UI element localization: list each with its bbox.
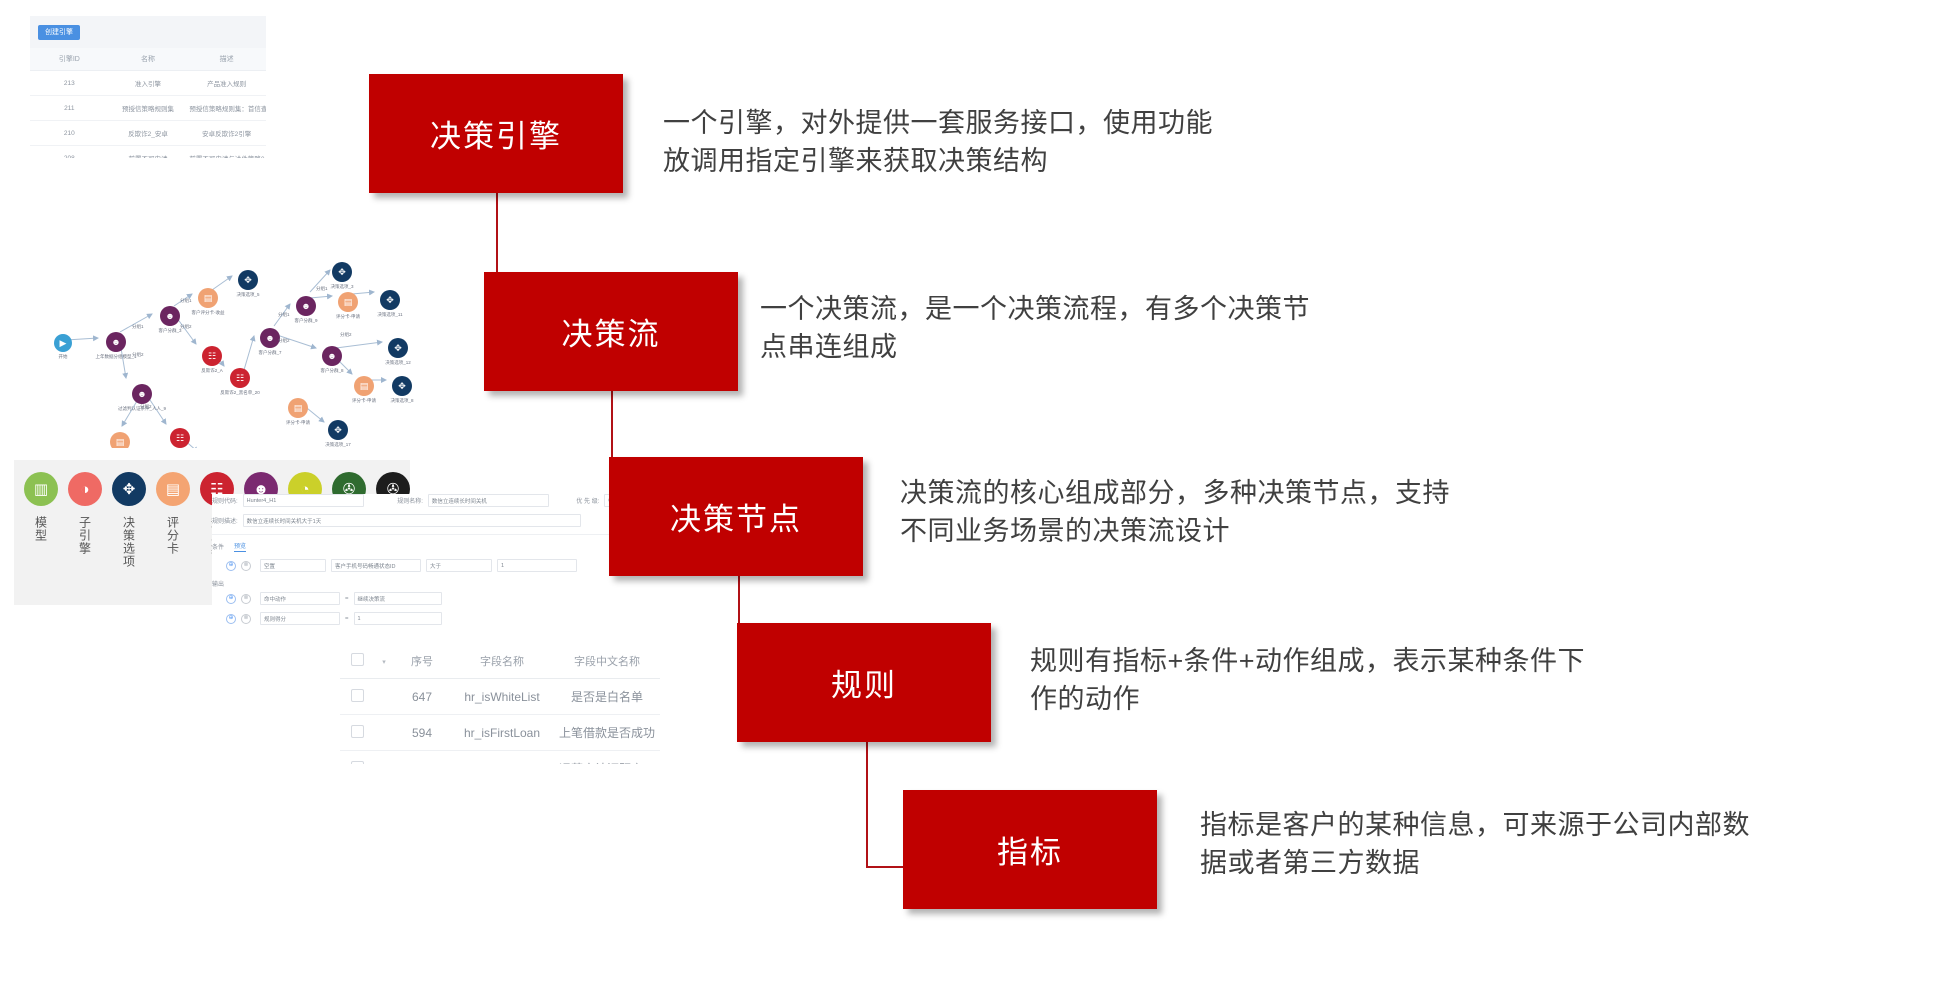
flow-edge-label: 分组2 xyxy=(132,352,144,358)
sub-engine-icon[interactable]: ◑ xyxy=(68,472,102,506)
node-type-scorecard[interactable]: ▤评分卡 xyxy=(156,472,190,568)
concept-title-engine: 决策引擎 xyxy=(430,111,562,156)
flow-edge-label: 分组1 xyxy=(132,324,144,330)
priority-label: 优 先 级: xyxy=(576,496,599,505)
row-select-cell[interactable] xyxy=(340,751,374,765)
spacer-cell xyxy=(374,715,394,751)
row-checkbox[interactable] xyxy=(351,725,364,738)
table-row[interactable]: 594 hr_isFirstLoan 上笔借款是否成功 xyxy=(340,715,660,751)
node-type-label: 子引擎 xyxy=(77,516,94,555)
metric-id: 593 xyxy=(394,751,450,765)
flow-edge-label: 分组2 xyxy=(140,404,152,410)
metric-id: 647 xyxy=(394,679,450,715)
metric-col-cn: 字段中文名称 xyxy=(554,644,660,679)
condition-header: 条件 预览 xyxy=(212,541,637,552)
engine-desc: 前置不可申请与进件策略0 xyxy=(187,146,266,159)
flow-node[interactable]: ▤ xyxy=(338,292,358,312)
decision-flow-screenshot: ▶开始☻上年数据分组模型_1☻客户分群_3▤客户评分卡-收益✥决策选项_5☷反欺… xyxy=(40,228,460,448)
remove-output-icon[interactable]: ⊗ xyxy=(241,614,251,624)
rule-code-input[interactable]: Hunter4_H1 xyxy=(243,494,365,507)
flow-node[interactable]: ☻ xyxy=(296,296,316,316)
flow-node[interactable]: ☷ xyxy=(202,346,222,366)
condition-metric-select[interactable]: 客户手机号码畅通状态ID xyxy=(331,559,421,572)
concept-box-flow[interactable]: 决策流 xyxy=(484,272,738,391)
row-select-cell[interactable] xyxy=(340,715,374,751)
flow-node[interactable]: ☻ xyxy=(106,332,126,352)
concept-desc-rule: 规则有指标+条件+动作组成，表示某种条件下 作的动作 xyxy=(1030,642,1730,718)
flow-edge-label: 分组1 xyxy=(316,286,328,292)
rule-name-input[interactable]: 数信立连续长时间关机 xyxy=(428,494,550,507)
engine-table: 引擎ID 名称 描述 213 准入引擎 产品准入规则 211 预授信策略规则集 … xyxy=(30,48,266,158)
flow-node[interactable]: ☷ xyxy=(230,368,250,388)
engine-id: 211 xyxy=(30,96,109,121)
engine-desc: 产品准入规则 xyxy=(187,71,266,96)
rule-desc-label: 规则描述: xyxy=(212,516,238,525)
metric-name: mid_operatorValid xyxy=(450,751,554,765)
remove-output-icon[interactable]: ⊗ xyxy=(241,594,251,604)
node-type-label: 模型 xyxy=(33,516,50,542)
concept-desc-node: 决策流的核心组成部分，多种决策节点，支持 不同业务场景的决策流设计 xyxy=(900,474,1600,550)
engine-name: 预授信策略规则集 xyxy=(109,96,188,121)
engine-table-header-row: 引擎ID 名称 描述 xyxy=(30,48,266,71)
concept-desc-engine: 一个引擎，对外提供一套服务接口，使用功能 放调用指定引擎来获取决策结构 xyxy=(663,104,1323,180)
node-type-sub-engine[interactable]: ◑子引擎 xyxy=(68,472,102,568)
flow-node-label: 客户评分卡-收益 xyxy=(192,310,225,316)
flow-node-label: 评分卡-申请 xyxy=(336,314,360,320)
output-key-select[interactable]: 命中动作 xyxy=(260,592,340,605)
rule-desc-row: 规则描述: 数信立连续长时间关机大于1天 xyxy=(212,514,637,527)
engine-name: 准入引擎 xyxy=(109,71,188,96)
flow-node-label: 客户分群_8 xyxy=(320,368,343,374)
node-type-model[interactable]: ▥模型 xyxy=(24,472,58,568)
metric-name: hr_isWhiteList xyxy=(450,679,554,715)
flow-node-label: 决策选项_17 xyxy=(325,442,351,448)
preview-link[interactable]: 预览 xyxy=(234,541,246,552)
node-type-label: 评分卡 xyxy=(165,516,182,555)
flow-node[interactable]: ▤ xyxy=(110,432,130,448)
flow-node[interactable]: ✥ xyxy=(392,376,412,396)
flow-node[interactable]: ✥ xyxy=(238,270,258,290)
engine-col-desc: 描述 xyxy=(187,48,266,71)
engine-list-screenshot: 创建引擎 引擎ID 名称 描述 213 准入引擎 产品准入规则 211 预授信策… xyxy=(30,16,266,158)
engine-name: 前置不可申请 xyxy=(109,146,188,159)
flow-edge-label: 分组1 xyxy=(278,312,290,318)
metric-id: 594 xyxy=(394,715,450,751)
rule-meta-row: 规则代码: Hunter4_H1 规则名称: 数信立连续长时间关机 优 先 级:… xyxy=(212,494,637,507)
flow-node-label: 客户分群_9 xyxy=(294,318,317,324)
table-row[interactable]: 593 mid_operatorValid 运营商认证距离… xyxy=(340,751,660,765)
rule-desc-input[interactable]: 数信立连续长时间关机大于1天 xyxy=(243,514,581,527)
spacer-cell xyxy=(374,751,394,765)
row-select-cell[interactable] xyxy=(340,679,374,715)
flow-node[interactable]: ✥ xyxy=(332,262,352,282)
select-all-checkbox[interactable] xyxy=(351,653,364,666)
rule-code-label: 规则代码: xyxy=(212,496,238,505)
table-row[interactable]: 211 预授信策略规则集 预授信策略规则集：首信查询节 xyxy=(30,96,266,121)
flow-node[interactable]: ☻ xyxy=(322,346,342,366)
table-row[interactable]: 210 反欺诈2_安卓 安卓反欺诈2引擎 xyxy=(30,121,266,146)
flow-node[interactable]: ▶ xyxy=(54,334,72,352)
flow-node-label: 决策选项_11 xyxy=(377,312,402,318)
spacer-cell xyxy=(374,679,394,715)
equals-sign: = xyxy=(345,596,349,602)
engine-desc: 安卓反欺诈2引擎 xyxy=(187,121,266,146)
row-checkbox[interactable] xyxy=(351,761,364,765)
concept-box-rule[interactable]: 规则 xyxy=(737,623,991,742)
flow-node-label: 决策选项_8 xyxy=(390,398,413,404)
node-type-decision-option[interactable]: ✥决策选项 xyxy=(112,472,146,568)
concept-desc-metric: 指标是客户的某种信息，可来源于公司内部数 据或者第三方数据 xyxy=(1200,806,1900,882)
flow-edge-label: 分组2 xyxy=(340,332,352,338)
concept-title-flow: 决策流 xyxy=(562,309,661,354)
metric-field-table-screenshot: ▾ 序号 字段名称 字段中文名称 647 hr_isWhiteList 是否是白… xyxy=(340,644,660,764)
flow-node-label: 决策选项_3 xyxy=(330,284,353,290)
output-value-select[interactable]: 继续决策流 xyxy=(354,592,442,605)
flow-node[interactable]: ☻ xyxy=(160,306,180,326)
node-type-label: 决策选项 xyxy=(121,516,138,568)
flow-node-label: 反欺诈2_A xyxy=(201,368,223,374)
output-row: ⊕ ⊗ 命中动作 = 继续决策流 xyxy=(226,592,637,605)
output-value-input[interactable]: 1 xyxy=(354,612,442,625)
output-key-select[interactable]: 规则得分 xyxy=(260,612,340,625)
add-output-icon[interactable]: ⊕ xyxy=(226,594,236,604)
metric-cn: 运营商认证距离… xyxy=(554,751,660,765)
condition-section-label: 条件 xyxy=(212,542,224,551)
condition-logic-select[interactable]: 空置 xyxy=(260,559,326,572)
metric-name: hr_isFirstLoan xyxy=(450,715,554,751)
table-row[interactable]: 647 hr_isWhiteList 是否是白名单 xyxy=(340,679,660,715)
rule-name-label: 规则名称: xyxy=(397,496,423,505)
condition-row: ⊕ ⊗ 空置 客户手机号码畅通状态ID 大于 1 xyxy=(226,559,637,572)
engine-col-id: 引擎ID xyxy=(30,48,109,71)
flow-node[interactable]: ▤ xyxy=(288,398,308,418)
metric-table-header-row: ▾ 序号 字段名称 字段中文名称 xyxy=(340,644,660,679)
model-icon[interactable]: ▥ xyxy=(24,472,58,506)
flow-node[interactable]: ▤ xyxy=(198,288,218,308)
flow-node-label: 决策选项_5 xyxy=(236,292,259,298)
engine-desc: 预授信策略规则集：首信查询节 xyxy=(187,96,266,121)
concept-desc-flow: 一个决策流，是一个决策流程，有多个决策节 点串连组成 xyxy=(760,290,1460,366)
sort-caret-cell[interactable]: ▾ xyxy=(374,644,394,679)
metric-cn: 是否是白名单 xyxy=(554,679,660,715)
flow-edge-label: 分组2 xyxy=(180,324,192,330)
flow-node-label: 客户分群_7 xyxy=(258,350,281,356)
engine-toolbar: 创建引擎 xyxy=(30,16,266,48)
concept-box-node[interactable]: 决策节点 xyxy=(609,457,863,576)
select-all-cell[interactable] xyxy=(340,644,374,679)
rule-editor-screenshot: 规则代码: Hunter4_H1 规则名称: 数信立连续长时间关机 优 先 级:… xyxy=(212,494,637,654)
engine-name: 反欺诈2_安卓 xyxy=(109,121,188,146)
concept-title-rule: 规则 xyxy=(831,660,897,705)
flow-edge-label: 分组1 xyxy=(180,298,192,304)
metric-cn: 上笔借款是否成功 xyxy=(554,715,660,751)
flow-node[interactable]: ☻ xyxy=(260,328,280,348)
condition-value-input[interactable]: 1 xyxy=(497,559,577,572)
flow-node-label: 上年数据分组模型_1 xyxy=(95,354,136,360)
row-checkbox[interactable] xyxy=(351,689,364,702)
flow-node[interactable]: ✥ xyxy=(388,338,408,358)
metric-col-name: 字段名称 xyxy=(450,644,554,679)
table-row[interactable]: 213 准入引擎 产品准入规则 xyxy=(30,71,266,96)
flow-node[interactable]: ✥ xyxy=(328,420,348,440)
engine-id: 210 xyxy=(30,121,109,146)
flow-node[interactable]: ▤ xyxy=(354,376,374,396)
concept-title-node: 决策节点 xyxy=(670,494,802,539)
add-output-icon[interactable]: ⊕ xyxy=(226,614,236,624)
equals-sign: = xyxy=(345,616,349,622)
flow-node-label: 反欺诈2_黑名单_20 xyxy=(220,390,260,396)
flow-node-label: 客户分群_3 xyxy=(158,328,181,334)
table-row[interactable]: 208 前置不可申请 前置不可申请与进件策略0 xyxy=(30,146,266,159)
flow-node-label: 决策选项_12 xyxy=(385,360,411,366)
metric-table: ▾ 序号 字段名称 字段中文名称 647 hr_isWhiteList 是否是白… xyxy=(340,644,660,764)
flow-node-label: 评分卡-申请 xyxy=(286,420,310,426)
engine-id: 208 xyxy=(30,146,109,159)
flow-node[interactable]: ☻ xyxy=(132,384,152,404)
concept-box-engine[interactable]: 决策引擎 xyxy=(369,74,623,193)
chevron-down-icon[interactable]: ▾ xyxy=(382,659,386,666)
output-section-label: 输出 xyxy=(212,579,637,588)
engine-col-name: 名称 xyxy=(109,48,188,71)
remove-condition-icon[interactable]: ⊗ xyxy=(241,561,251,571)
flow-edge-label: 分组2 xyxy=(278,338,290,344)
flow-node-label: 评分卡-申请 xyxy=(352,398,376,404)
flow-node[interactable]: ☷ xyxy=(170,428,190,448)
decision-option-icon[interactable]: ✥ xyxy=(112,472,146,506)
scorecard-icon[interactable]: ▤ xyxy=(156,472,190,506)
engine-id: 213 xyxy=(30,71,109,96)
concept-title-metric: 指标 xyxy=(997,827,1063,872)
divider xyxy=(212,534,637,535)
condition-operator-select[interactable]: 大于 xyxy=(426,559,492,572)
metric-col-id: 序号 xyxy=(394,644,450,679)
flow-node[interactable]: ✥ xyxy=(380,290,400,310)
output-row: ⊕ ⊗ 规则得分 = 1 xyxy=(226,612,637,625)
add-condition-icon[interactable]: ⊕ xyxy=(226,561,236,571)
flow-node-label: 开始 xyxy=(59,354,68,360)
create-engine-button[interactable]: 创建引擎 xyxy=(38,25,80,40)
concept-box-metric[interactable]: 指标 xyxy=(903,790,1157,909)
